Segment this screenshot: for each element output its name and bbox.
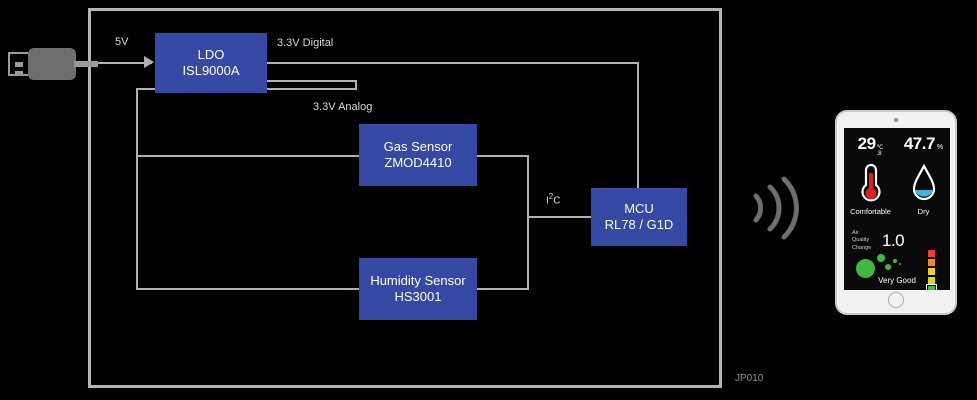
usb-cable bbox=[74, 61, 98, 67]
air-quality-value: 1.0 bbox=[882, 231, 904, 251]
usb-connector-icon bbox=[8, 48, 88, 80]
scale-step-red bbox=[928, 250, 935, 257]
wire-digital-horizontal bbox=[267, 62, 639, 64]
tablet-device: 29 ℃ .8 47.7 % bbox=[835, 110, 957, 315]
air-quality-status: Very Good bbox=[844, 276, 950, 285]
temperature-readout: 29 ℃ .8 bbox=[844, 134, 897, 160]
humidity-icon-column: Dry bbox=[897, 162, 950, 224]
tablet-home-button[interactable] bbox=[888, 292, 904, 308]
wireless-signal-icon bbox=[742, 168, 804, 248]
block-mcu-part: RL78 / G1D bbox=[605, 217, 674, 233]
wire-i2c-to-mcu bbox=[527, 216, 592, 218]
bubble-small bbox=[885, 264, 891, 270]
wire-analog-to-gas-sensor bbox=[136, 155, 360, 157]
air-quality-label-line2: Quality bbox=[852, 237, 878, 244]
app-readouts: 29 ℃ .8 47.7 % bbox=[844, 134, 950, 160]
wire-analog-from-ldo bbox=[267, 80, 357, 82]
bubble-medium bbox=[877, 254, 885, 262]
label-analog-rail: 3.3V Analog bbox=[313, 101, 372, 113]
block-ldo-title: LDO bbox=[198, 47, 225, 63]
scale-step-green bbox=[928, 286, 935, 290]
wire-i2c-bus bbox=[527, 155, 529, 290]
block-mcu-title: MCU bbox=[624, 201, 654, 217]
block-mcu: MCU RL78 / G1D bbox=[591, 188, 687, 246]
wire-analog-to-humidity-sensor bbox=[136, 288, 360, 290]
block-gas-sensor: Gas Sensor ZMOD4410 bbox=[359, 124, 477, 186]
air-quality-label: Air Quality Change bbox=[852, 230, 878, 252]
temperature-icon-column: Comfortable bbox=[844, 162, 897, 224]
thermometer-icon bbox=[858, 162, 884, 204]
scale-step-orange bbox=[928, 259, 935, 266]
label-board-part-number: JP010 bbox=[735, 373, 763, 384]
block-humidity-sensor: Humidity Sensor HS3001 bbox=[359, 258, 477, 320]
wire-analog-left-bus bbox=[136, 88, 138, 289]
app-icon-row: Comfortable Dry bbox=[844, 162, 950, 224]
humidity-caption: Dry bbox=[918, 207, 930, 216]
temperature-caption: Comfortable bbox=[850, 207, 891, 216]
humidity-value: 47.7 bbox=[904, 134, 935, 154]
block-gas-sensor-title: Gas Sensor bbox=[384, 139, 453, 155]
water-droplet-icon bbox=[911, 162, 937, 204]
temperature-value: 29 bbox=[858, 134, 876, 154]
label-i2c-c: C bbox=[553, 195, 560, 206]
wire-humidity-sensor-output bbox=[477, 288, 529, 290]
wire-digital-vertical bbox=[637, 62, 639, 190]
humidity-readout: 47.7 % bbox=[897, 134, 950, 160]
air-quality-label-line3: Change bbox=[852, 245, 878, 252]
usb-body bbox=[28, 48, 76, 80]
usb-shell bbox=[8, 52, 30, 76]
humidity-unit: % bbox=[937, 144, 943, 151]
block-gas-sensor-part: ZMOD4410 bbox=[384, 155, 451, 171]
wire-arrow-into-ldo bbox=[144, 56, 154, 68]
block-ldo: LDO ISL9000A bbox=[155, 33, 267, 93]
scale-step-yellow bbox=[928, 268, 935, 275]
wire-gas-sensor-output bbox=[477, 155, 529, 157]
tablet-camera bbox=[894, 118, 898, 122]
block-ldo-part: ISL9000A bbox=[182, 63, 239, 79]
label-i2c-bus: I2C bbox=[546, 192, 560, 206]
bubble-tiny bbox=[893, 259, 897, 263]
temperature-unit-stack: ℃ .8 bbox=[877, 145, 884, 157]
block-diagram-screenshot: 5V 3.3V Digital 3.3V Analog I2C JP010 LD… bbox=[0, 0, 977, 400]
label-digital-rail: 3.3V Digital bbox=[277, 37, 333, 49]
air-quality-label-line1: Air bbox=[852, 230, 878, 237]
usb-pin-top bbox=[15, 62, 23, 67]
usb-pin-bottom bbox=[15, 71, 23, 76]
label-input-voltage: 5V bbox=[115, 36, 128, 48]
tablet-screen[interactable]: 29 ℃ .8 47.7 % bbox=[844, 128, 950, 290]
bubble-dot bbox=[899, 263, 901, 265]
block-humidity-sensor-title: Humidity Sensor bbox=[370, 273, 465, 289]
block-humidity-sensor-part: HS3001 bbox=[395, 289, 442, 305]
temperature-decimal: .8 bbox=[877, 151, 884, 157]
